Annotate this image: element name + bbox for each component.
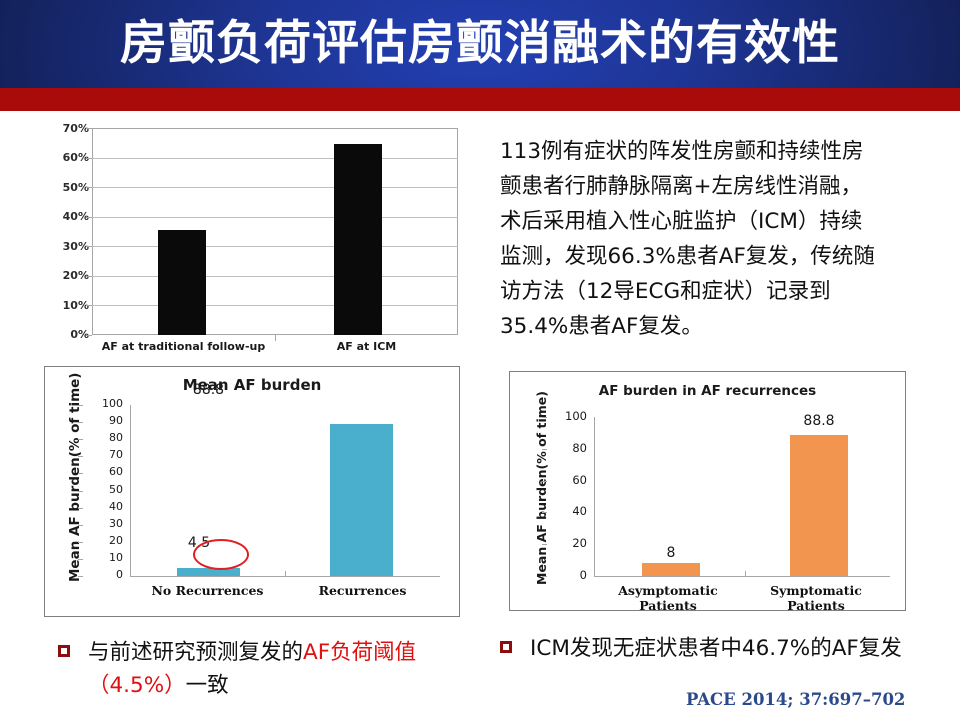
y-tick-label: 90 xyxy=(83,414,123,427)
x-axis-label-asymptomatic: Asymptomatic Patients xyxy=(594,583,742,613)
y-tick-label: 60% xyxy=(41,151,89,164)
bar-recurrences xyxy=(330,424,393,576)
bar-asymptomatic-patients xyxy=(642,563,700,576)
y-tick-label: 30% xyxy=(41,240,89,253)
plot-area-af-burden-recurrences: 100 80 60 40 20 0 8 88.8 xyxy=(594,417,890,577)
y-tick-label: 50% xyxy=(41,181,89,194)
bar-symptomatic-patients xyxy=(790,435,848,576)
y-tick-label: 40% xyxy=(41,210,89,223)
bullet-left: 与前述研究预测复发的AF负荷阈值（4.5%）一致 xyxy=(58,636,478,702)
description-line: 术后采用植入性心脏监护（ICM）持续 xyxy=(500,204,940,239)
gridline xyxy=(92,217,458,218)
y-tick-label: 0 xyxy=(547,568,587,582)
x-axis-label-symptomatic: Symptomatic Patients xyxy=(742,583,890,613)
x-axis-label-no-recurrences: No Recurrences xyxy=(130,583,285,598)
bullet-right: ICM发现无症状患者中46.7%的AF复发 xyxy=(500,632,940,665)
y-tick-label: 40 xyxy=(547,504,587,518)
y-tick-mark xyxy=(86,335,92,336)
page-title: 房颤负荷评估房颤消融术的有效性 xyxy=(0,0,960,88)
gridline xyxy=(92,246,458,247)
y-axis-line xyxy=(130,405,131,577)
y-tick-label: 20% xyxy=(41,269,89,282)
gridline xyxy=(92,158,458,159)
description-line: 监测，发现66.3%患者AF复发，传统随 xyxy=(500,239,940,274)
y-tick-label: 60 xyxy=(547,473,587,487)
x-axis-divider xyxy=(745,571,746,577)
bar-af-at-icm xyxy=(334,144,382,335)
bar-af-traditional-followup xyxy=(158,230,206,335)
chart-af-burden-in-af-recurrences: AF burden in AF recurrences Mean AF burd… xyxy=(509,371,906,611)
y-tick-label: 30 xyxy=(83,517,123,530)
chart-mean-af-burden: Mean AF burden Mean AF burden(% of time)… xyxy=(44,366,460,617)
square-bullet-icon xyxy=(500,641,512,653)
chart-title-mean-af-burden: Mean AF burden xyxy=(45,376,459,394)
description-paragraph: 113例有症状的阵发性房颤和持续性房 颤患者行肺静脉隔离+左房线性消融， 术后采… xyxy=(500,134,940,344)
y-axis-title-mean-af-burden: Mean AF burden(% of time) xyxy=(67,373,83,582)
description-line: 113例有症状的阵发性房颤和持续性房 xyxy=(500,134,940,169)
bar-value-asymptomatic: 8 xyxy=(642,545,700,561)
bar-value-recurrences: 88.8 xyxy=(177,382,240,398)
gridline xyxy=(92,305,458,306)
y-tick-label: 10% xyxy=(41,299,89,312)
gridline xyxy=(92,276,458,277)
y-tick-label: 40 xyxy=(83,500,123,513)
y-tick-label: 100 xyxy=(547,409,587,423)
y-tick-label: 70 xyxy=(83,448,123,461)
plot-area-top xyxy=(92,128,458,335)
x-axis-line xyxy=(594,576,890,577)
description-line: 35.4%患者AF复发。 xyxy=(500,309,940,344)
y-tick-label: 60 xyxy=(83,465,123,478)
x-axis-label-icm: AF at ICM xyxy=(275,340,458,353)
y-tick-label: 0 xyxy=(83,568,123,581)
x-axis-label-traditional: AF at traditional follow-up xyxy=(92,340,275,353)
description-line: 访方法（12导ECG和症状）记录到 xyxy=(500,274,940,309)
square-bullet-icon xyxy=(58,645,70,657)
description-line: 颤患者行肺静脉隔离+左房线性消融， xyxy=(500,169,940,204)
bullet-right-text: ICM发现无症状患者中46.7%的AF复发 xyxy=(530,632,940,665)
bar-no-recurrences xyxy=(177,568,240,576)
bullet-left-text: 与前述研究预测复发的AF负荷阈值（4.5%）一致 xyxy=(88,636,478,702)
y-tick-mark xyxy=(86,128,92,129)
y-tick-label: 20 xyxy=(83,534,123,547)
y-tick-label: 80 xyxy=(547,441,587,455)
chart-title-af-burden-recurrences: AF burden in AF recurrences xyxy=(510,383,905,399)
y-tick-label: 50 xyxy=(83,483,123,496)
slide-canvas: 房颤负荷评估房颤消融术的有效性 70% 60% 50% 40% 30% 20% … xyxy=(0,0,960,720)
title-banner: 房颤负荷评估房颤消融术的有效性 xyxy=(0,0,960,88)
x-axis-label-recurrences: Recurrences xyxy=(285,583,440,598)
chart-af-recurrence-detection: 70% 60% 50% 40% 30% 20% 10% 0% AF at tra… xyxy=(38,114,463,362)
y-tick-label: 80 xyxy=(83,431,123,444)
x-axis-divider xyxy=(285,571,286,577)
y-tick-label: 10 xyxy=(83,551,123,564)
y-tick-label: 100 xyxy=(83,397,123,410)
y-tick-label: 70% xyxy=(41,122,89,135)
plot-area-mean-af-burden: 100 90 80 70 60 50 40 30 20 10 0 88.8 xyxy=(130,405,440,577)
bullet-left-segment1: 与前述研究预测复发的 xyxy=(88,640,303,665)
citation-reference: PACE 2014; 37:697–702 xyxy=(686,690,905,709)
red-ellipse-annotation-icon xyxy=(193,539,249,570)
gridline xyxy=(92,187,458,188)
y-axis-line xyxy=(594,417,595,577)
y-tick-label: 20 xyxy=(547,536,587,550)
accent-divider-band xyxy=(0,88,960,111)
bullet-left-segment3: 一致 xyxy=(186,673,229,698)
bar-value-symptomatic: 88.8 xyxy=(790,413,848,429)
y-tick-label: 0% xyxy=(41,328,89,341)
